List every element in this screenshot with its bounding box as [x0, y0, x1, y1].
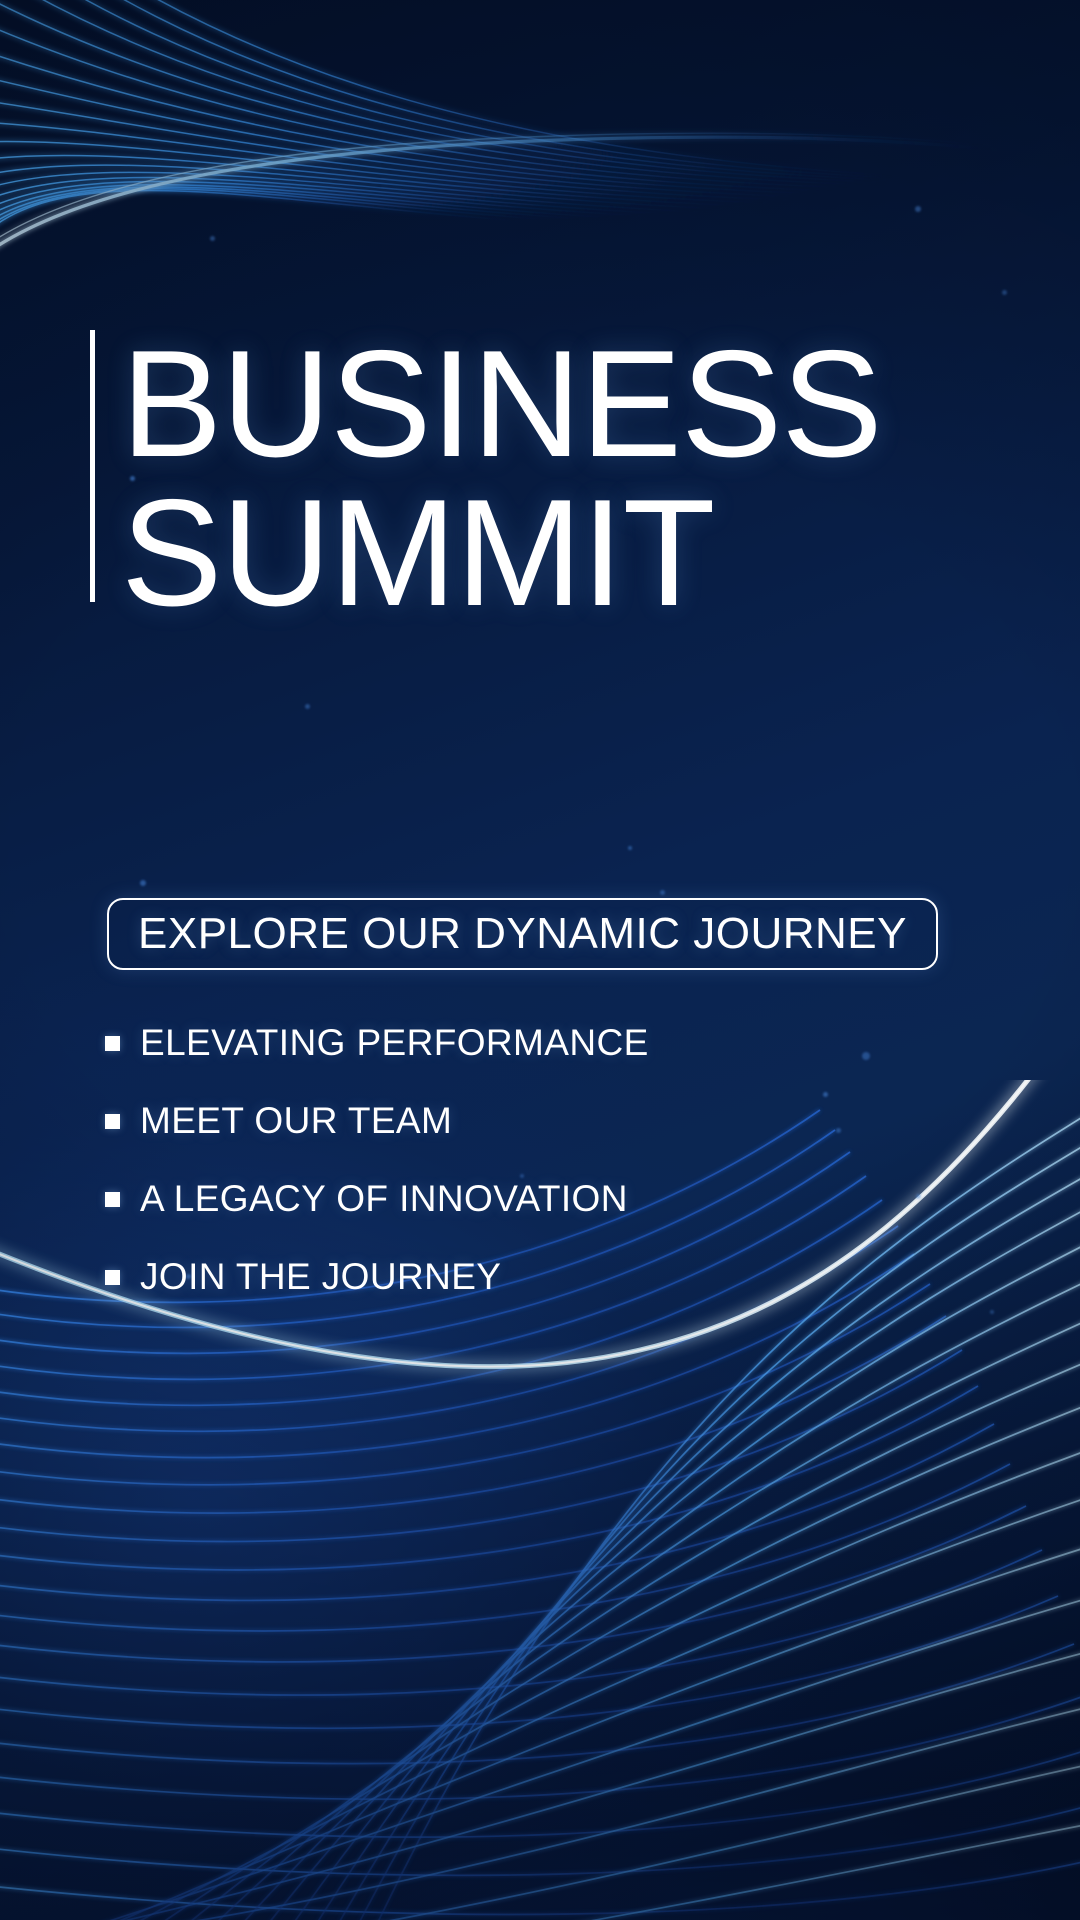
list-item[interactable]: MEET OUR TEAM	[105, 1082, 865, 1160]
page-title-line-2: SUMMIT	[121, 479, 882, 628]
square-bullet-icon	[105, 1192, 120, 1207]
list-item-label: JOIN THE JOURNEY	[140, 1256, 501, 1298]
list-item[interactable]: ELEVATING PERFORMANCE	[105, 1004, 865, 1082]
square-bullet-icon	[105, 1036, 120, 1051]
poster-content: BUSINESS SUMMIT EXPLORE OUR DYNAMIC JOUR…	[0, 0, 1080, 1920]
title-block: BUSINESS SUMMIT	[90, 330, 882, 628]
explore-journey-button[interactable]: EXPLORE OUR DYNAMIC JOURNEY	[107, 898, 938, 970]
square-bullet-icon	[105, 1270, 120, 1285]
list-item-label: MEET OUR TEAM	[140, 1100, 452, 1142]
list-item-label: ELEVATING PERFORMANCE	[140, 1022, 649, 1064]
agenda-list: ELEVATING PERFORMANCE MEET OUR TEAM A LE…	[105, 1004, 865, 1316]
square-bullet-icon	[105, 1114, 120, 1129]
title-lines: BUSINESS SUMMIT	[121, 330, 882, 628]
explore-journey-button-label: EXPLORE OUR DYNAMIC JOURNEY	[138, 909, 907, 959]
poster-canvas: BUSINESS SUMMIT EXPLORE OUR DYNAMIC JOUR…	[0, 0, 1080, 1920]
list-item-label: A LEGACY OF INNOVATION	[140, 1178, 628, 1220]
page-title-line-1: BUSINESS	[121, 330, 882, 479]
title-accent-bar	[90, 330, 95, 602]
list-item[interactable]: JOIN THE JOURNEY	[105, 1238, 865, 1316]
list-item[interactable]: A LEGACY OF INNOVATION	[105, 1160, 865, 1238]
